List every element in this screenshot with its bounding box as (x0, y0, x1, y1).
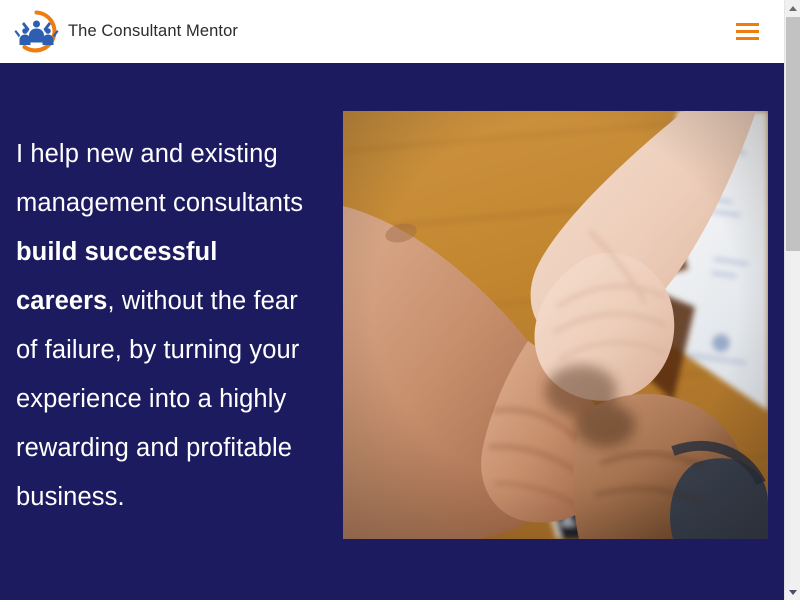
hamburger-bar-3 (736, 37, 759, 40)
three-fists-bump-photo-graphic: 10:24 (343, 111, 768, 539)
hero-image: 10:24 (343, 111, 768, 539)
site-header: The Consultant Mentor (0, 0, 784, 63)
hamburger-bar-2 (736, 30, 759, 33)
vertical-scroll-thumb[interactable] (786, 17, 800, 251)
brand-link[interactable]: The Consultant Mentor (14, 9, 238, 54)
triangle-down-glyph (789, 590, 797, 595)
scroll-down-arrow-icon[interactable] (785, 584, 800, 600)
brand-name-text: The Consultant Mentor (68, 22, 238, 41)
hero-headline: I help new and existing management consu… (16, 130, 321, 522)
hamburger-bar-1 (736, 23, 759, 26)
page-root: The Consultant Mentor I help new and exi… (0, 0, 800, 600)
hamburger-menu-button[interactable] (736, 18, 762, 44)
people-in-circle-logo-icon (14, 9, 59, 54)
scroll-up-arrow-icon[interactable] (785, 0, 800, 16)
hero-headline-run-2: , without the fear of failure, by turnin… (16, 287, 299, 511)
vertical-scrollbar[interactable] (784, 0, 800, 600)
triangle-up-glyph (789, 6, 797, 11)
browser-viewport: The Consultant Mentor I help new and exi… (0, 0, 784, 600)
site-logo (14, 9, 59, 54)
hero-headline-run-0: I help new and existing management consu… (16, 140, 303, 217)
hero-section: I help new and existing management consu… (0, 63, 784, 600)
